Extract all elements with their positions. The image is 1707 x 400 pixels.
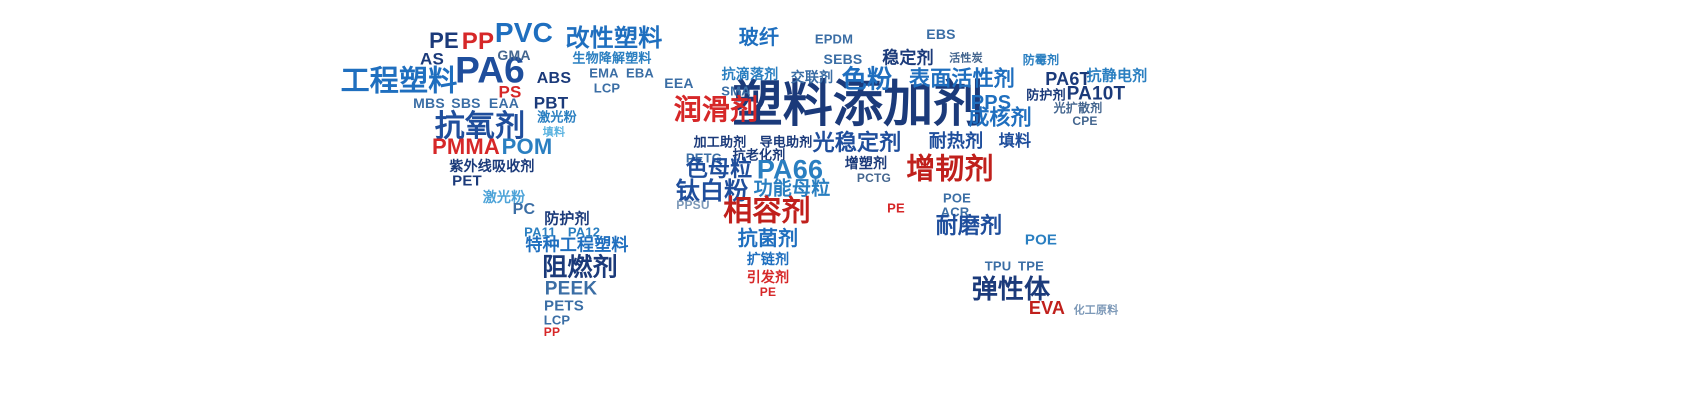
cloud-word[interactable]: 抗菌剂 — [738, 229, 799, 249]
cloud-word[interactable]: PMMA — [432, 136, 500, 158]
cloud-word[interactable]: EBS — [926, 27, 955, 41]
cloud-word[interactable]: 特种工程塑料 — [525, 237, 628, 254]
cloud-word[interactable]: CPE — [1072, 115, 1097, 127]
cloud-word[interactable]: 激光粉 — [537, 111, 577, 124]
cloud-word[interactable]: 稳定剂 — [882, 50, 934, 67]
cloud-word[interactable]: 防霉剂 — [1023, 54, 1060, 66]
cloud-word[interactable]: 表面活性剂 — [909, 69, 1015, 90]
cloud-word[interactable]: 紫外线吸收剂 — [449, 159, 534, 173]
cloud-word[interactable]: 光扩散剂 — [1054, 102, 1103, 114]
cloud-word[interactable]: 增塑剂 — [845, 156, 888, 170]
cloud-word[interactable]: EBA — [626, 67, 654, 80]
cloud-word[interactable]: 填料 — [999, 134, 1031, 150]
cloud-word[interactable]: 改性塑料 — [566, 27, 663, 51]
cloud-word[interactable]: POE — [943, 192, 971, 205]
cloud-word[interactable]: 生物降解塑料 — [572, 52, 651, 65]
cloud-word[interactable]: TPE — [1018, 260, 1044, 273]
cloud-word[interactable]: PCTG — [857, 172, 891, 184]
cloud-word[interactable]: 耐磨剂 — [936, 215, 1003, 237]
cloud-word[interactable]: 增韧剂 — [906, 156, 994, 185]
cloud-word[interactable]: GMA — [497, 48, 530, 62]
cloud-word[interactable]: EMA — [589, 67, 619, 80]
cloud-word[interactable]: 耐热剂 — [929, 132, 984, 150]
cloud-word[interactable]: 活性炭 — [949, 54, 983, 65]
cloud-word[interactable]: SEBS — [824, 52, 863, 66]
cloud-word[interactable]: 工程塑料 — [341, 68, 458, 97]
cloud-word[interactable]: TPU — [985, 260, 1012, 273]
cloud-word[interactable]: ABS — [537, 71, 571, 87]
cloud-word[interactable]: 相容剂 — [723, 198, 811, 227]
word-cloud-canvas: 塑料添加剂工程塑料PA6PVCPEPPGMAASABSPSMBSSBSEAAPB… — [0, 0, 1707, 400]
cloud-word[interactable]: EEA — [664, 76, 693, 90]
cloud-word[interactable]: 扩链剂 — [747, 252, 790, 266]
cloud-word[interactable]: 化工原料 — [1074, 306, 1119, 317]
cloud-word[interactable]: 玻纤 — [739, 28, 779, 48]
cloud-word[interactable]: 抗滴落剂 — [722, 67, 779, 81]
cloud-word[interactable]: 光稳定剂 — [813, 132, 902, 154]
cloud-word[interactable]: 色粉 — [842, 68, 892, 93]
cloud-word[interactable]: PC — [513, 202, 536, 218]
cloud-word[interactable]: EPDM — [815, 33, 853, 46]
cloud-word[interactable]: AS — [420, 51, 444, 68]
cloud-word[interactable]: PETS — [544, 299, 584, 314]
cloud-word[interactable]: POE — [1025, 233, 1057, 248]
cloud-word[interactable]: 交联剂 — [791, 70, 834, 84]
cloud-word[interactable]: 成核剂 — [968, 108, 1032, 129]
cloud-word[interactable]: 色母粒 — [686, 158, 753, 180]
cloud-word[interactable]: PE — [760, 286, 776, 298]
cloud-word[interactable]: PET — [452, 174, 482, 189]
cloud-word[interactable]: PP — [544, 326, 560, 338]
cloud-word[interactable]: LCP — [594, 82, 621, 95]
cloud-word[interactable]: MBS — [413, 96, 445, 110]
cloud-word[interactable]: PE — [887, 202, 905, 215]
cloud-word[interactable]: 防护剂 — [1026, 89, 1066, 102]
cloud-word[interactable]: EAA — [489, 96, 519, 110]
cloud-word[interactable]: PVC — [495, 19, 553, 47]
cloud-word[interactable]: 抗静电剂 — [1087, 69, 1148, 84]
cloud-word[interactable]: 引发剂 — [747, 270, 790, 284]
cloud-word[interactable]: PP — [462, 30, 494, 54]
cloud-word[interactable]: PPSU — [676, 199, 709, 211]
cloud-word[interactable]: PEEK — [545, 280, 598, 299]
cloud-word[interactable]: EVA — [1029, 299, 1065, 317]
cloud-word[interactable]: POM — [502, 136, 553, 158]
cloud-word[interactable]: SBS — [451, 96, 480, 110]
cloud-word[interactable]: 润滑剂 — [674, 96, 759, 124]
cloud-word[interactable]: 阻燃剂 — [542, 256, 618, 281]
